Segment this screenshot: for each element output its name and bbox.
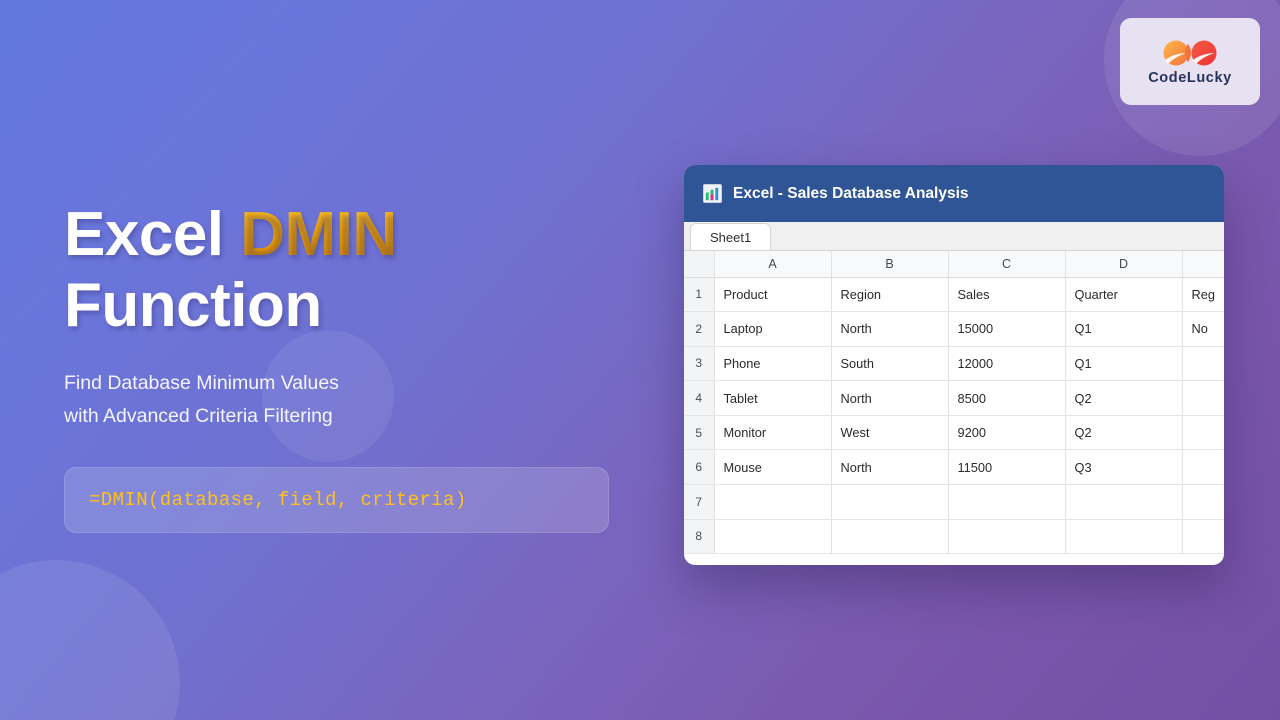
cell-C1[interactable]: Sales bbox=[948, 277, 1065, 312]
column-header-d[interactable]: D bbox=[1065, 251, 1182, 277]
column-header-row: A B C D bbox=[684, 251, 1224, 277]
cell-E1[interactable]: Reg bbox=[1182, 277, 1224, 312]
brand-logo-card: CodeLucky bbox=[1120, 18, 1260, 105]
decorative-circle-bottom-left bbox=[0, 560, 180, 720]
cell-B7[interactable] bbox=[831, 485, 948, 520]
cell-C6[interactable]: 11500 bbox=[948, 450, 1065, 485]
excel-window: Excel - Sales Database Analysis Sheet1 A… bbox=[684, 165, 1224, 565]
cell-E8[interactable] bbox=[1182, 519, 1224, 554]
brand-logo-text: CodeLucky bbox=[1148, 70, 1232, 86]
cell-B5[interactable]: West bbox=[831, 415, 948, 450]
cell-D8[interactable] bbox=[1065, 519, 1182, 554]
sheet-tab-label: Sheet1 bbox=[710, 230, 751, 245]
page-title: Excel DMINFunction bbox=[64, 200, 634, 341]
page-subtitle-line-1: Find Database Minimum Values bbox=[64, 372, 339, 394]
row-header[interactable]: 1 bbox=[684, 277, 714, 312]
formula-callout: =DMIN(database, field, criteria) bbox=[64, 467, 609, 533]
sheet-tab-strip: Sheet1 bbox=[684, 222, 1224, 251]
table-row: 8 bbox=[684, 519, 1224, 554]
cell-D7[interactable] bbox=[1065, 485, 1182, 520]
table-row: 1ProductRegionSalesQuarterReg bbox=[684, 277, 1224, 312]
excel-window-title: Excel - Sales Database Analysis bbox=[733, 185, 969, 203]
row-header[interactable]: 3 bbox=[684, 346, 714, 381]
row-header[interactable]: 7 bbox=[684, 485, 714, 520]
cell-E4[interactable] bbox=[1182, 381, 1224, 416]
cell-A1[interactable]: Product bbox=[714, 277, 831, 312]
cell-A8[interactable] bbox=[714, 519, 831, 554]
column-header-c[interactable]: C bbox=[948, 251, 1065, 277]
page-subtitle-line-2: with Advanced Criteria Filtering bbox=[64, 405, 333, 427]
cell-B6[interactable]: North bbox=[831, 450, 948, 485]
cell-A5[interactable]: Monitor bbox=[714, 415, 831, 450]
page-title-main: Excel bbox=[64, 200, 240, 269]
page-title-line2: Function bbox=[64, 271, 322, 340]
formula-syntax-text: =DMIN(database, field, criteria) bbox=[89, 489, 584, 511]
cell-D6[interactable]: Q3 bbox=[1065, 450, 1182, 485]
cell-E2[interactable]: No bbox=[1182, 312, 1224, 347]
table-row: 6MouseNorth11500Q3 bbox=[684, 450, 1224, 485]
table-row: 5MonitorWest9200Q2 bbox=[684, 415, 1224, 450]
table-row: 2LaptopNorth15000Q1No bbox=[684, 312, 1224, 347]
cell-C4[interactable]: 8500 bbox=[948, 381, 1065, 416]
cell-C8[interactable] bbox=[948, 519, 1065, 554]
cell-A7[interactable] bbox=[714, 485, 831, 520]
cell-C7[interactable] bbox=[948, 485, 1065, 520]
page-subtitle: Find Database Minimum Valueswith Advance… bbox=[64, 367, 634, 433]
cell-B1[interactable]: Region bbox=[831, 277, 948, 312]
cell-A4[interactable]: Tablet bbox=[714, 381, 831, 416]
cell-B3[interactable]: South bbox=[831, 346, 948, 381]
spreadsheet-grid[interactable]: A B C D 1ProductRegionSalesQuarterReg2La… bbox=[684, 251, 1224, 554]
table-row: 4TabletNorth8500Q2 bbox=[684, 381, 1224, 416]
cell-D2[interactable]: Q1 bbox=[1065, 312, 1182, 347]
cell-E3[interactable] bbox=[1182, 346, 1224, 381]
slide-canvas: Excel DMINFunction Find Database Minimum… bbox=[0, 0, 1280, 720]
cell-B2[interactable]: North bbox=[831, 312, 948, 347]
cell-B4[interactable]: North bbox=[831, 381, 948, 416]
cell-E7[interactable] bbox=[1182, 485, 1224, 520]
cell-D4[interactable]: Q2 bbox=[1065, 381, 1182, 416]
cell-D5[interactable]: Q2 bbox=[1065, 415, 1182, 450]
cell-A6[interactable]: Mouse bbox=[714, 450, 831, 485]
cell-C2[interactable]: 15000 bbox=[948, 312, 1065, 347]
cell-C5[interactable]: 9200 bbox=[948, 415, 1065, 450]
excel-titlebar: Excel - Sales Database Analysis bbox=[684, 165, 1224, 222]
table-row: 7 bbox=[684, 485, 1224, 520]
column-header-e[interactable] bbox=[1182, 251, 1224, 277]
infinity-leaf-icon bbox=[1159, 38, 1221, 68]
row-header[interactable]: 4 bbox=[684, 381, 714, 416]
column-header-a[interactable]: A bbox=[714, 251, 831, 277]
hero-text-block: Excel DMINFunction Find Database Minimum… bbox=[64, 200, 634, 533]
cell-E5[interactable] bbox=[1182, 415, 1224, 450]
row-header[interactable]: 2 bbox=[684, 312, 714, 347]
excel-chart-icon bbox=[703, 184, 722, 203]
cell-C3[interactable]: 12000 bbox=[948, 346, 1065, 381]
cell-B8[interactable] bbox=[831, 519, 948, 554]
table-row: 3PhoneSouth12000Q1 bbox=[684, 346, 1224, 381]
cell-E6[interactable] bbox=[1182, 450, 1224, 485]
cell-A2[interactable]: Laptop bbox=[714, 312, 831, 347]
row-header[interactable]: 5 bbox=[684, 415, 714, 450]
cell-D1[interactable]: Quarter bbox=[1065, 277, 1182, 312]
column-header-b[interactable]: B bbox=[831, 251, 948, 277]
cell-D3[interactable]: Q1 bbox=[1065, 346, 1182, 381]
row-header[interactable]: 6 bbox=[684, 450, 714, 485]
select-all-corner[interactable] bbox=[684, 251, 714, 277]
cell-A3[interactable]: Phone bbox=[714, 346, 831, 381]
page-title-accent: DMIN bbox=[240, 200, 396, 269]
sheet-tab-sheet1[interactable]: Sheet1 bbox=[690, 223, 771, 250]
row-header[interactable]: 8 bbox=[684, 519, 714, 554]
